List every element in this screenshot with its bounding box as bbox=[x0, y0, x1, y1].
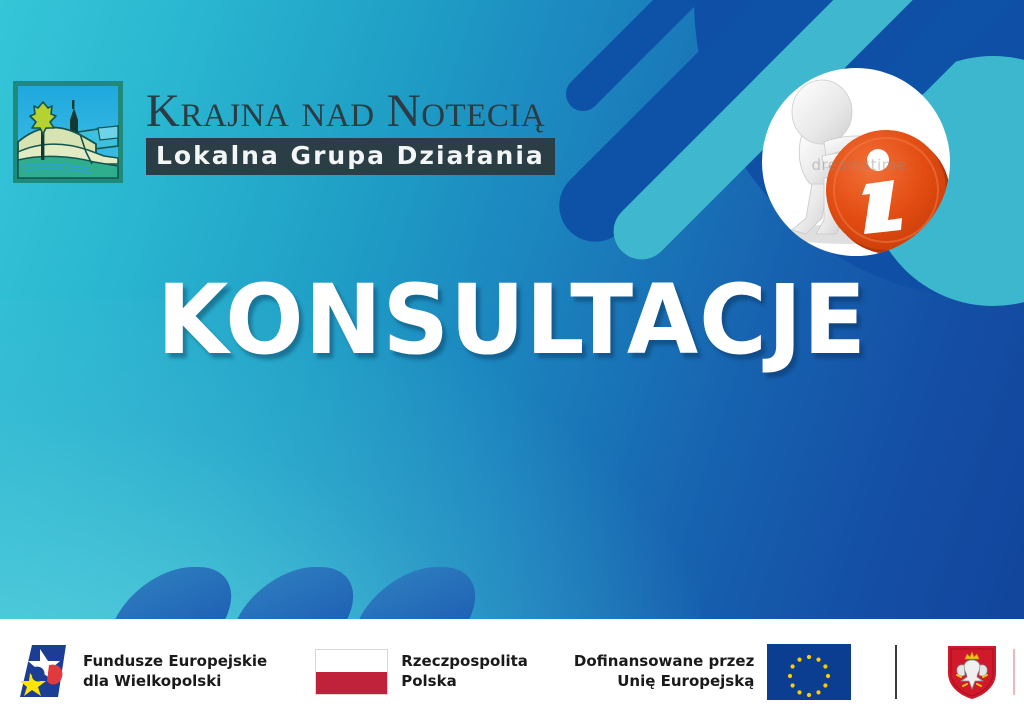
republic-line-2: Polska bbox=[401, 672, 528, 691]
republic-line-1: Rzeczpospolita bbox=[401, 652, 528, 671]
funds-line-2: dla Wielkopolski bbox=[83, 672, 267, 691]
funding-footer: Fundusze Europejskie dla Wielkopolski Rz… bbox=[0, 619, 1024, 724]
republic-label: Rzeczpospolita Polska bbox=[401, 652, 528, 690]
flag-stripe-white bbox=[316, 650, 387, 672]
page-title: KONSULTACJE bbox=[20, 272, 1003, 368]
footer-block-voivodeship: SAMORZĄD WOJEWÓDZTWA WIELKOPOLSKIEGO bbox=[945, 641, 1024, 703]
lgd-subtitle: Lokalna Grupa Działania bbox=[156, 143, 545, 168]
poland-flag-icon bbox=[315, 649, 388, 695]
eu-line-2: Unię Europejską bbox=[574, 672, 754, 691]
footer-block-funds: Fundusze Europejskie dla Wielkopolski bbox=[18, 641, 267, 703]
footer-block-eu: Dofinansowane przez Unię Europejską bbox=[574, 641, 851, 703]
wave-bump-3 bbox=[359, 567, 494, 619]
crest-rule bbox=[1013, 649, 1015, 695]
lgd-logo: Krajna nad Notecią Lokalna Grupa Działan… bbox=[12, 80, 555, 184]
funds-label: Fundusze Europejskie dla Wielkopolski bbox=[83, 652, 267, 690]
banner-background: Krajna nad Notecią Lokalna Grupa Działan… bbox=[0, 0, 1024, 619]
lgd-wordmark: Krajna nad Notecią Lokalna Grupa Działan… bbox=[146, 88, 555, 175]
info-character-icon bbox=[762, 68, 950, 256]
funds-line-1: Fundusze Europejskie bbox=[83, 652, 267, 671]
flag-stripe-red bbox=[316, 672, 387, 694]
krajna-landscape-emblem-icon bbox=[12, 80, 124, 184]
eu-label: Dofinansowane przez Unię Europejską bbox=[574, 652, 754, 690]
wave-bump-1 bbox=[115, 567, 250, 619]
footer-divider bbox=[895, 645, 897, 699]
footer-block-republic: Rzeczpospolita Polska bbox=[315, 641, 528, 703]
wielkopolska-coat-of-arms-icon bbox=[945, 643, 999, 701]
consultation-banner: Krajna nad Notecią Lokalna Grupa Działan… bbox=[0, 0, 1024, 724]
lgd-title: Krajna nad Notecią bbox=[146, 88, 555, 134]
info-character-graphic: dreamstime bbox=[762, 68, 950, 256]
european-union-flag-icon bbox=[767, 644, 851, 700]
lgd-subtitle-bar: Lokalna Grupa Działania bbox=[146, 138, 555, 175]
fundusze-europejskie-logo-icon bbox=[18, 643, 70, 701]
eu-line-1: Dofinansowane przez bbox=[574, 652, 754, 671]
wave-bump-2 bbox=[237, 567, 372, 619]
